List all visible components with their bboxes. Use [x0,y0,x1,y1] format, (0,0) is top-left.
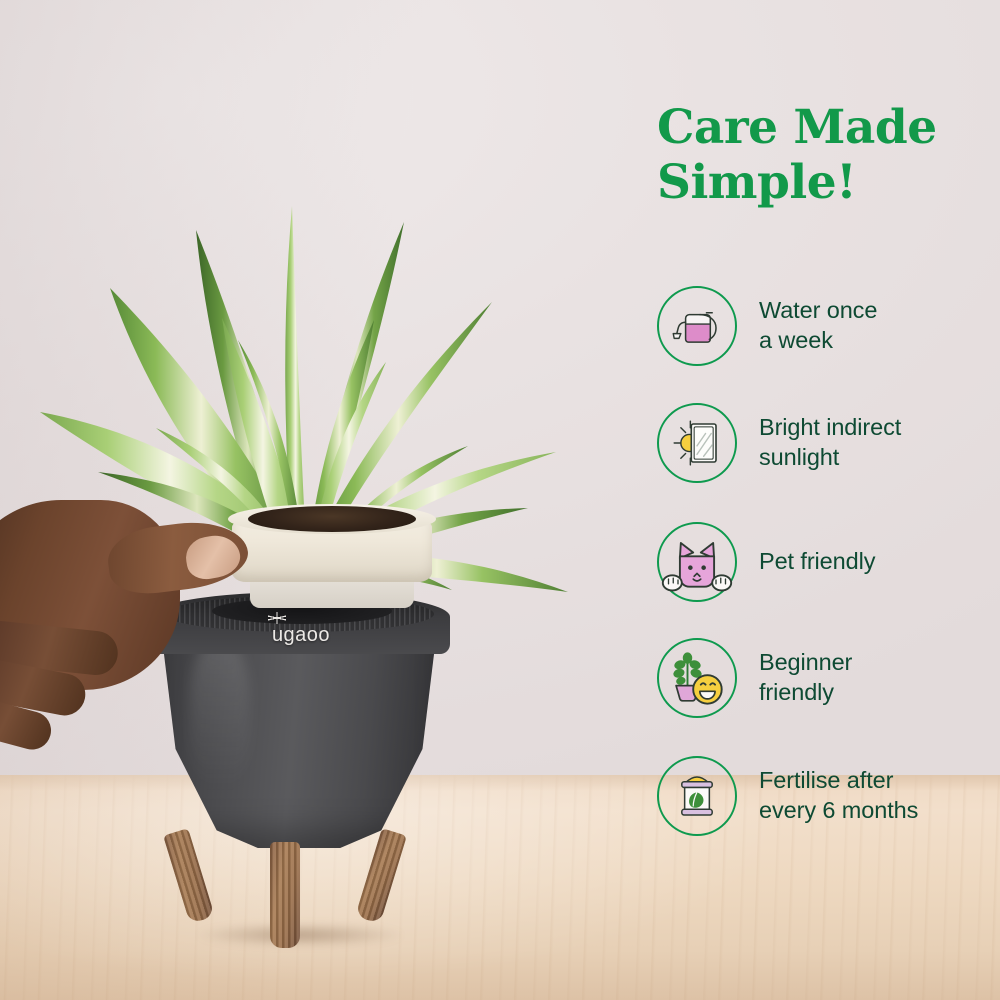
feature-fertilise-line-1: Fertilise after [759,766,918,796]
feature-label-beginner: Beginner friendly [759,648,852,707]
potted-plant-smiley-icon [657,638,737,718]
cat-glyph [659,524,735,600]
window-sun-icon [657,403,737,483]
feature-label-water: Water once a week [759,296,877,355]
feature-label-fertilise: Fertilise after every 6 months [759,766,918,825]
feature-row-water: Water once a week [640,280,1000,372]
feature-sunlight-line-1: Bright indirect [759,413,901,443]
feature-row-pet: Pet friendly [640,516,1000,608]
feature-row-beginner: Beginner friendly [640,632,1000,724]
fertiliser-bag-glyph [659,758,735,834]
window-sun-glyph [659,405,735,481]
feature-water-line-1: Water once [759,296,877,326]
fertiliser-bag-icon [657,756,737,836]
feature-row-fertilise: Fertilise after every 6 months [640,750,1000,842]
headline-line-1: Care Made [657,100,987,155]
feature-pet-line-1: Pet friendly [759,547,875,577]
hand-holding-pot [0,470,290,800]
planter-leg-left [163,828,215,924]
pot-cast-shadow [150,918,450,952]
planter-leg-right [355,828,407,924]
feature-label-pet: Pet friendly [759,547,875,577]
planter-leg-center [270,842,300,948]
feature-water-line-2: a week [759,326,877,356]
feature-beginner-line-2: friendly [759,678,852,708]
page-title: Care Made Simple! [657,100,987,211]
watering-can-glyph [659,288,735,364]
cat-icon [657,522,737,602]
feature-fertilise-line-2: every 6 months [759,796,918,826]
watering-can-icon [657,286,737,366]
potted-plant-smiley-glyph [659,640,735,716]
feature-beginner-line-1: Beginner [759,648,852,678]
headline-line-2: Simple! [657,155,987,210]
feature-row-sunlight: Bright indirect sunlight [640,397,1000,489]
feature-sunlight-line-2: sunlight [759,443,901,473]
care-info-panel: Care Made Simple! Water once a week [640,0,1000,1000]
feature-label-sunlight: Bright indirect sunlight [759,413,901,472]
